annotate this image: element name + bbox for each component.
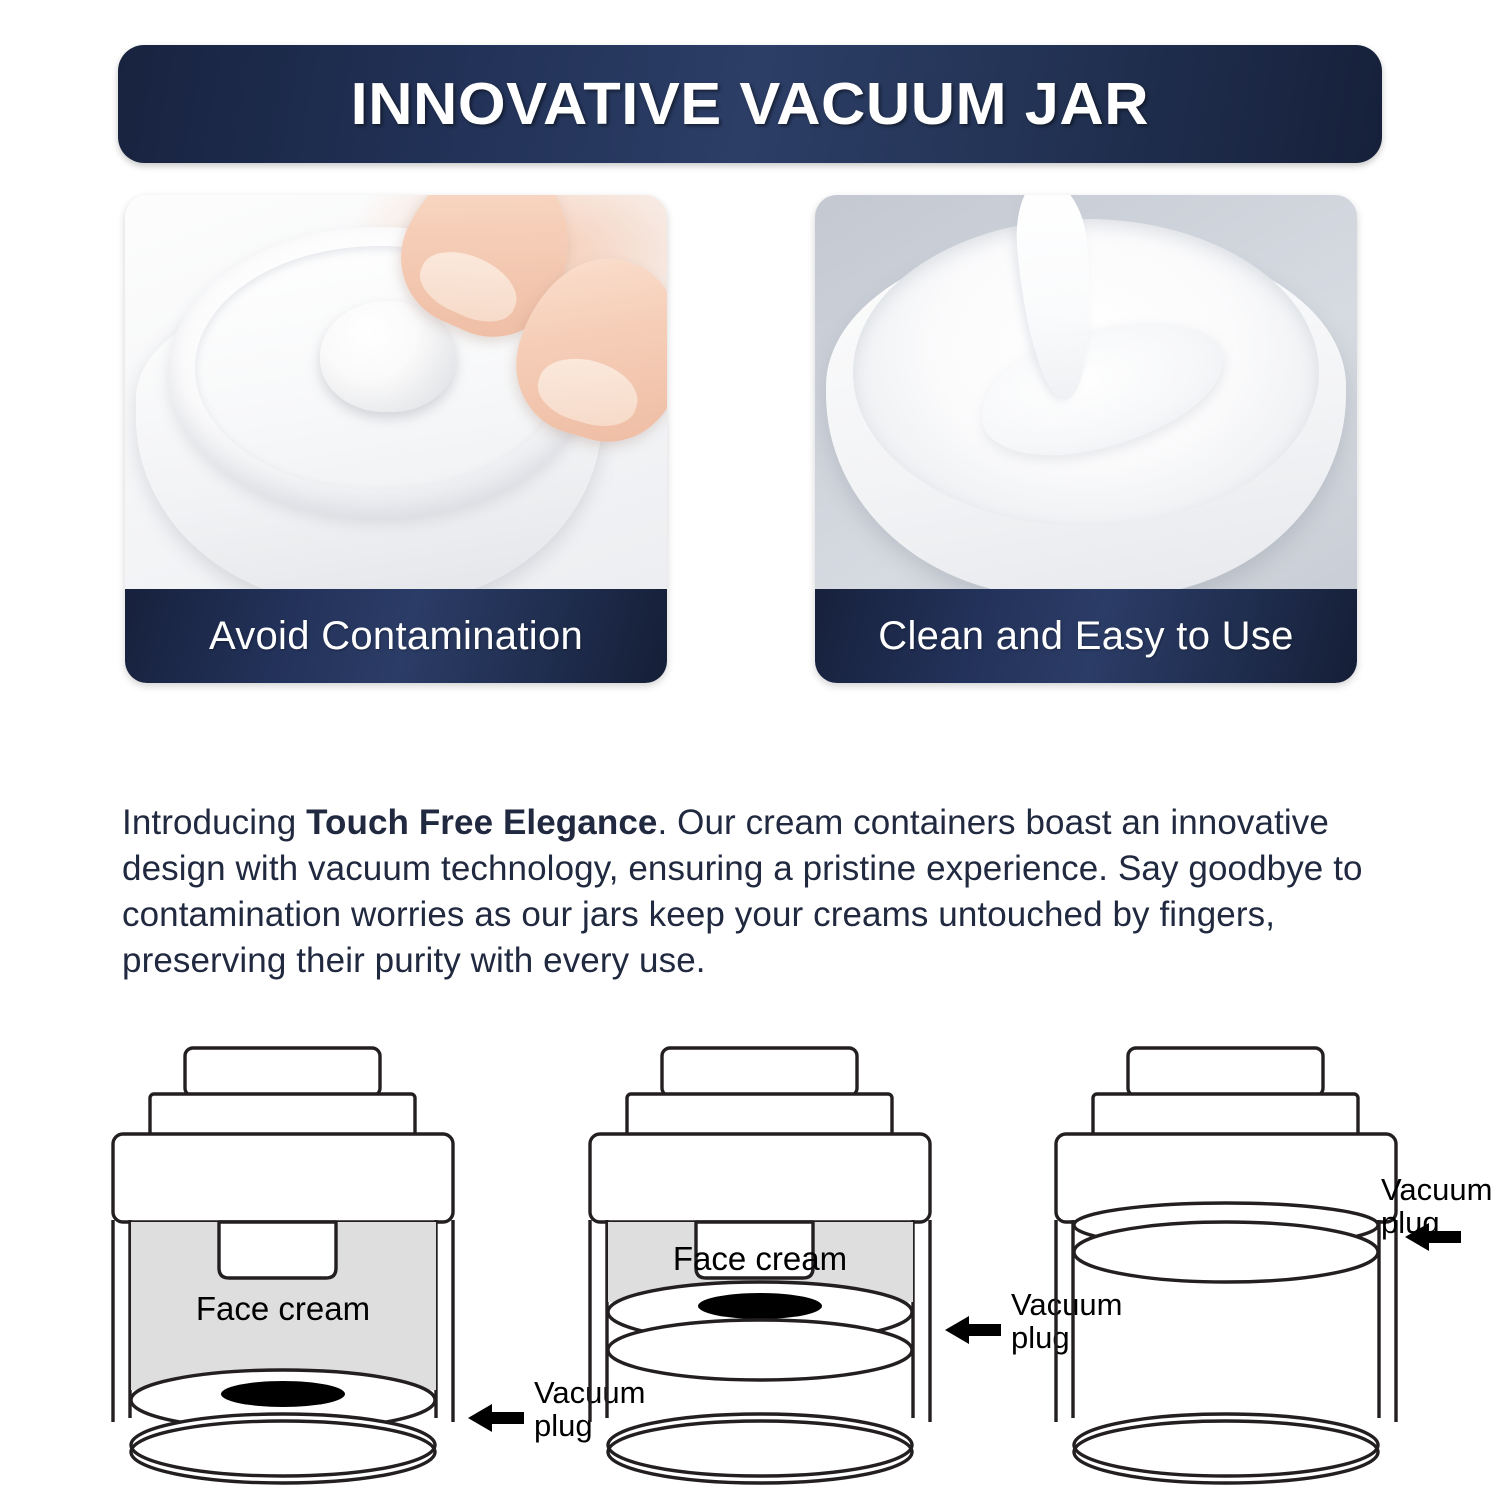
- vacuum-plug-arrow: [468, 1404, 524, 1432]
- jar-diagram-full: Face cream Vacuum plug: [113, 1048, 645, 1483]
- jar-label-face-cream: Face cream: [673, 1240, 847, 1277]
- body-bold-phrase: Touch Free Elegance: [306, 803, 657, 842]
- vacuum-plug-arrow: [945, 1316, 1001, 1344]
- fingernail-shape: [531, 348, 645, 435]
- header-banner: INNOVATIVE VACUUM JAR: [118, 45, 1382, 163]
- cream-dollop-shape: [320, 301, 456, 411]
- page-title: INNOVATIVE VACUUM JAR: [351, 70, 1149, 138]
- vacuum-plug-label-line2: plug: [534, 1408, 593, 1443]
- card-caption-bar: Avoid Contamination: [125, 589, 667, 683]
- vacuum-plug-label-line1: Vacuum: [1011, 1287, 1122, 1322]
- vacuum-plug-label-line1: Vacuum: [1381, 1172, 1492, 1207]
- feature-card-avoid-contamination: Avoid Contamination: [125, 195, 667, 683]
- feature-card-clean-easy: Clean and Easy to Use: [815, 195, 1357, 683]
- vacuum-plug-label-line2: plug: [1381, 1205, 1440, 1240]
- card-caption-label: Avoid Contamination: [209, 614, 583, 659]
- vacuum-plug-label-line2: plug: [1011, 1320, 1070, 1355]
- body-paragraph: Introducing Touch Free Elegance. Our cre…: [122, 800, 1412, 984]
- vacuum-jar-diagram-group: .ln { fill:none; stroke:#231f20; stroke-…: [0, 1020, 1500, 1490]
- card-caption-label: Clean and Easy to Use: [878, 614, 1293, 659]
- card-caption-bar: Clean and Easy to Use: [815, 589, 1357, 683]
- jar-diagram-empty: Vacuum plug: [1056, 1048, 1492, 1483]
- jar-label-face-cream: Face cream: [196, 1290, 370, 1327]
- open-cream-jar-swirl-photo: [815, 195, 1357, 589]
- jar-diagram-half: Face cream Vacuum plug: [590, 1048, 1122, 1483]
- finger-touching-cream-jar-lid-photo: [125, 195, 667, 589]
- feature-cards-row: Avoid Contamination Clean and Easy to Us…: [125, 195, 1375, 685]
- body-intro-text: Introducing: [122, 803, 306, 842]
